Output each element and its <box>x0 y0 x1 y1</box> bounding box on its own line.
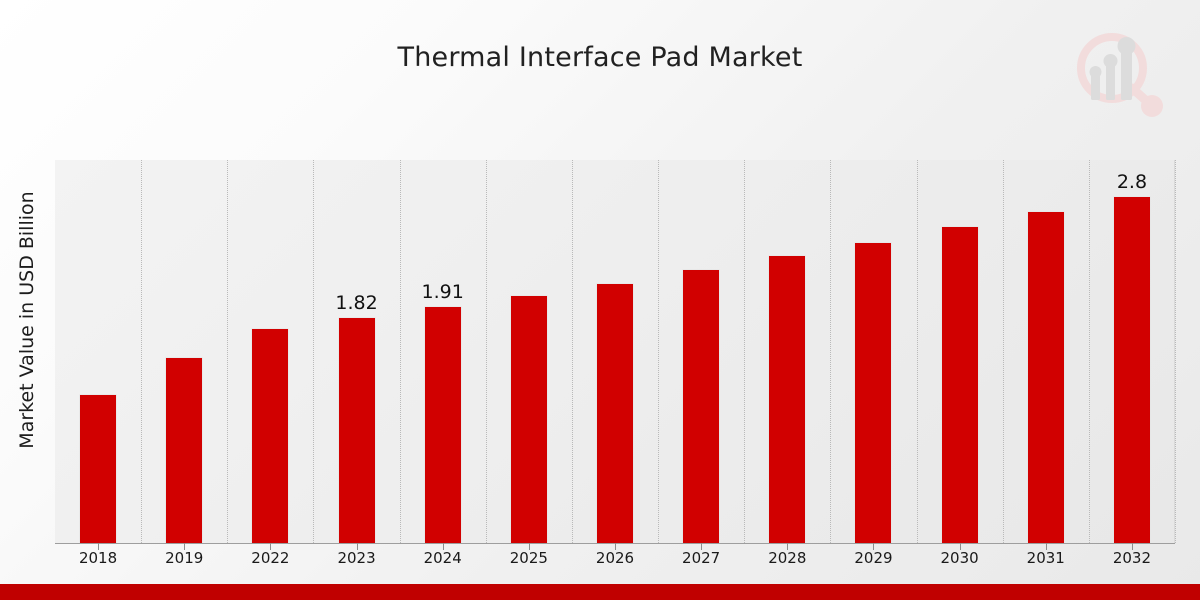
x-axis-label-2023: 2023 <box>312 549 402 567</box>
bar-2026 <box>597 284 633 543</box>
bar-2028 <box>769 256 805 543</box>
gridline <box>917 160 918 543</box>
gridline <box>830 160 831 543</box>
x-axis-label-2030: 2030 <box>915 549 1005 567</box>
chart-page: Thermal Interface Pad Market Market Valu… <box>0 0 1200 600</box>
gridline <box>400 160 401 543</box>
gridline <box>141 160 142 543</box>
bar-2029 <box>855 243 891 543</box>
gridline <box>1175 160 1176 543</box>
gridline <box>1003 160 1004 543</box>
bar-value-label-2024: 1.91 <box>398 281 488 303</box>
x-axis-label-2028: 2028 <box>742 549 832 567</box>
bar-2019 <box>166 358 202 543</box>
x-axis-label-2022: 2022 <box>225 549 315 567</box>
watermark-logo-icon <box>1064 22 1176 124</box>
gridline <box>744 160 745 543</box>
x-axis-label-2029: 2029 <box>828 549 918 567</box>
x-axis-label-2024: 2024 <box>398 549 488 567</box>
bar-2023 <box>339 318 375 543</box>
x-axis-label-2032: 2032 <box>1087 549 1177 567</box>
bar-2032 <box>1114 197 1150 543</box>
x-axis-label-2019: 2019 <box>139 549 229 567</box>
bar-2025 <box>511 296 547 543</box>
bar-2018 <box>80 395 116 543</box>
bar-2024 <box>425 307 461 543</box>
x-axis-label-2025: 2025 <box>484 549 574 567</box>
bar-2030 <box>942 227 978 543</box>
bar-2031 <box>1028 212 1064 543</box>
plot-area: 1.821.912.8 <box>55 160 1175 543</box>
gridline <box>1089 160 1090 543</box>
gridline <box>313 160 314 543</box>
x-axis-label-2026: 2026 <box>570 549 660 567</box>
y-axis-title: Market Value in USD Billion <box>10 120 44 520</box>
bar-2022 <box>252 329 288 543</box>
bar-value-label-2032: 2.8 <box>1087 171 1177 193</box>
gridline <box>658 160 659 543</box>
x-axis-label-2018: 2018 <box>53 549 143 567</box>
chart-title: Thermal Interface Pad Market <box>0 42 1200 73</box>
x-axis-label-2031: 2031 <box>1001 549 1091 567</box>
gridline <box>227 160 228 543</box>
bar-value-label-2023: 1.82 <box>312 292 402 314</box>
gridline <box>572 160 573 543</box>
gridline <box>486 160 487 543</box>
x-axis-label-2027: 2027 <box>656 549 746 567</box>
footer-band <box>0 584 1200 600</box>
bar-2027 <box>683 270 719 543</box>
